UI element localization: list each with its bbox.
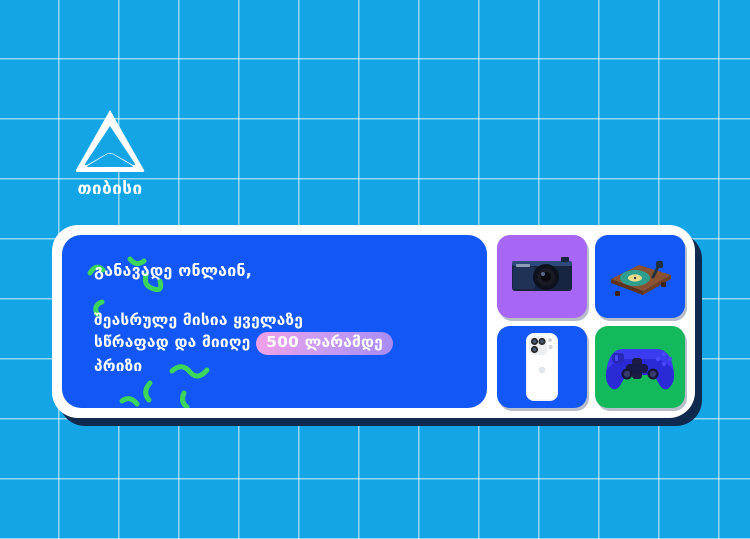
promo-subline-3: პრიზი (94, 355, 475, 377)
brand-name: თიბისი (50, 181, 170, 198)
brand-logo: თიბისი (50, 108, 170, 198)
gamepad-icon (602, 339, 678, 395)
product-tile-camera[interactable] (497, 235, 587, 318)
promo-headline: განავადე ონლაინ, (94, 261, 475, 281)
message-panel: განავადე ონლაინ, შეასრულე მისია ყველაზე … (62, 235, 487, 408)
iphone-icon (520, 330, 564, 404)
product-tile-smartphone[interactable] (497, 326, 587, 409)
promo-copy: განავადე ონლაინ, შეასრულე მისია ყველაზე … (94, 261, 475, 377)
product-tile-turntable[interactable] (595, 235, 685, 318)
promo-subheadline: შეასრულე მისია ყველაზე სწრაფად და მიიღე … (94, 309, 475, 377)
amount-highlight-pill: 500 ლარამდე (256, 332, 393, 354)
product-tile-gamepad[interactable] (595, 326, 685, 409)
promo-subline-1: შეასრულე მისია ყველაზე (94, 309, 475, 331)
tbc-triangle-logo-icon (74, 108, 146, 174)
product-grid (497, 235, 685, 408)
promo-subline-2: სწრაფად და მიიღე 500 ლარამდე (94, 331, 475, 354)
promo-card[interactable]: განავადე ონლაინ, შეასრულე მისია ყველაზე … (52, 225, 695, 418)
camera-icon (506, 251, 578, 301)
promo-subline-2-prefix: სწრაფად და მიიღე (94, 333, 250, 351)
turntable-icon (601, 249, 679, 303)
promo-banner: თიბისი განავადე ონლაინ, შეასრულე მი (0, 0, 750, 539)
